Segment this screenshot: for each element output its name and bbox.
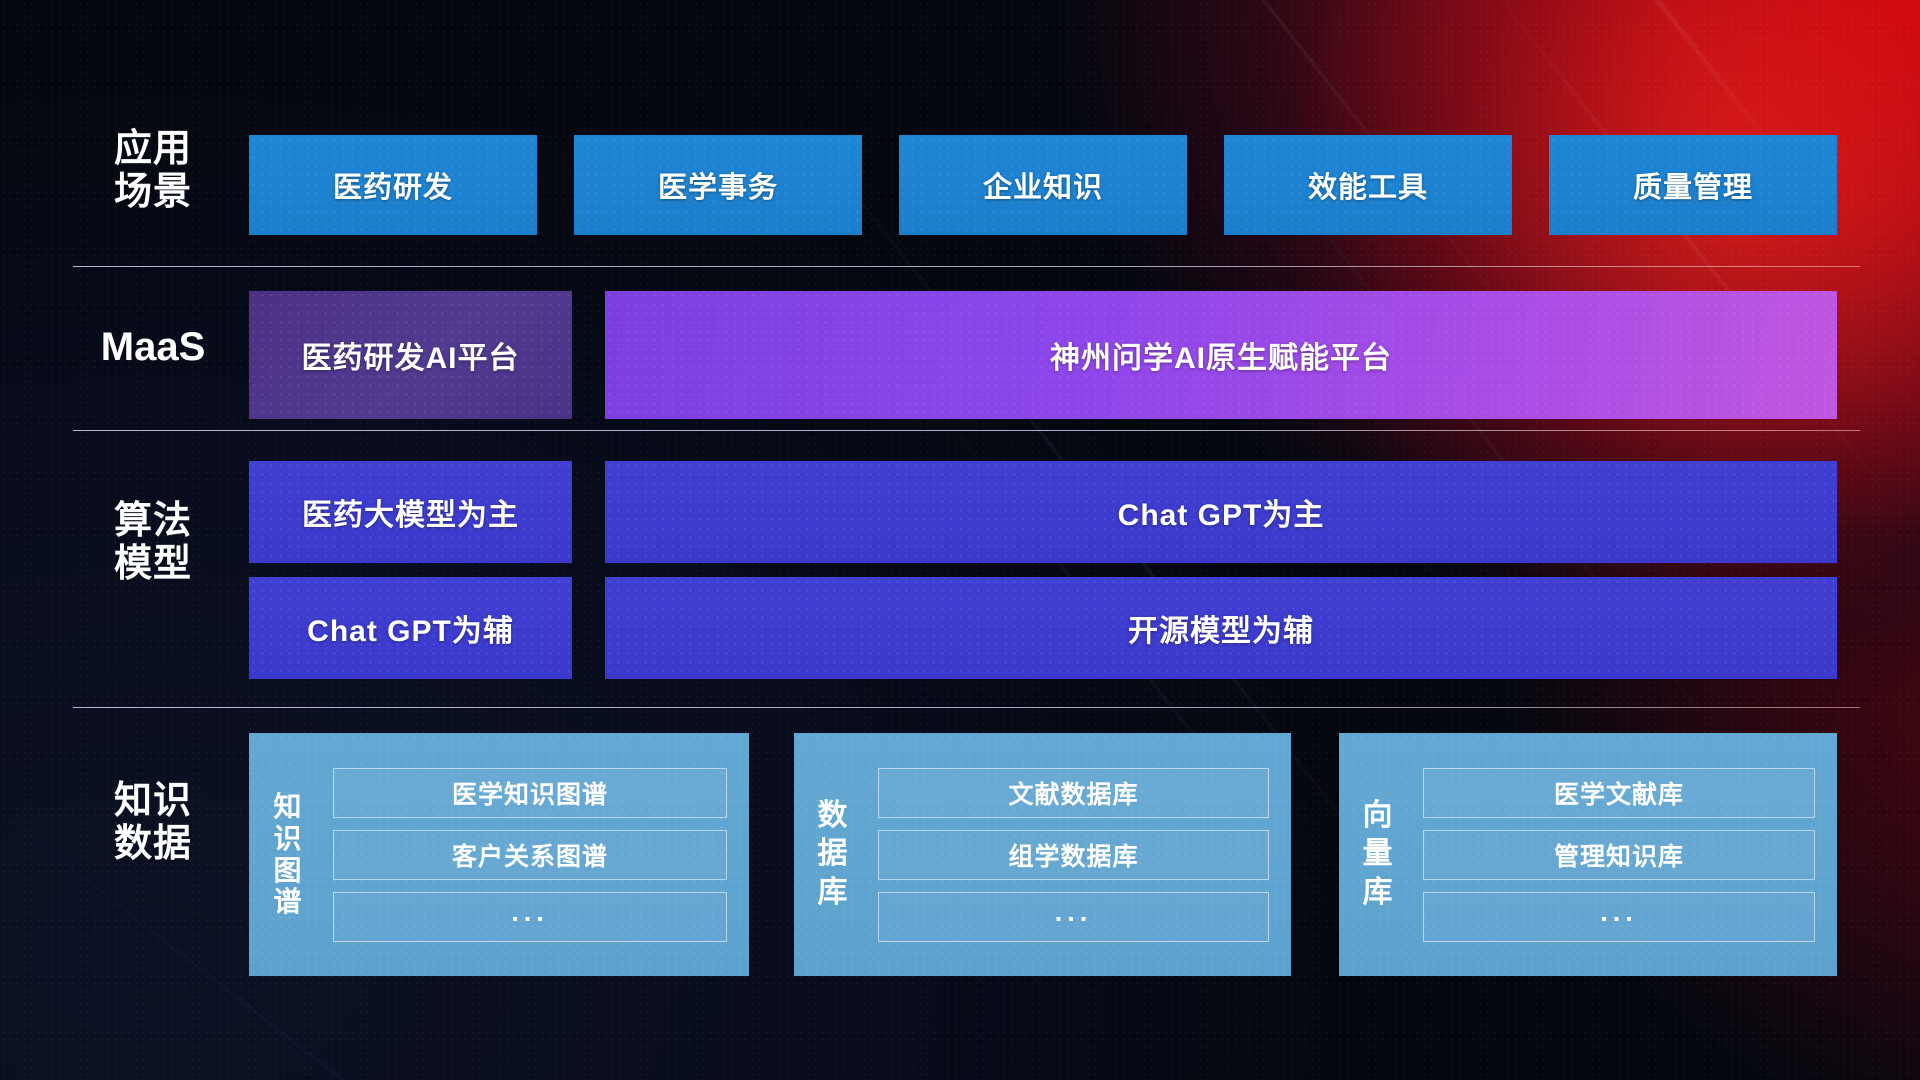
knowledge-item[interactable]: 客户关系图谱	[333, 830, 727, 880]
title-char: 图	[273, 855, 302, 887]
app-box-quality-management[interactable]: 质量管理	[1549, 135, 1837, 235]
title-char: 知	[273, 791, 302, 823]
maas-box-pharma-ai-platform[interactable]: 医药研发AI平台	[249, 291, 572, 419]
algo-box-label: Chat GPT为辅	[307, 606, 514, 650]
row-label-line: MaaS	[73, 325, 233, 370]
row-label-application: 应用 场景	[73, 128, 233, 214]
row-separator	[73, 266, 1860, 267]
row-label-line: 知识	[73, 780, 233, 823]
knowledge-item-list: 医学文献库 管理知识库 ...	[1417, 733, 1837, 976]
title-char: 据	[818, 835, 849, 873]
row-label-line: 算法	[73, 500, 233, 543]
knowledge-item[interactable]: 文献数据库	[878, 768, 1269, 818]
title-char: 识	[273, 823, 302, 855]
knowledge-item[interactable]: 管理知识库	[1423, 830, 1815, 880]
algo-box-label: 开源模型为辅	[1128, 606, 1314, 650]
knowledge-item[interactable]: 医学知识图谱	[333, 768, 727, 818]
app-box-efficiency-tools[interactable]: 效能工具	[1224, 135, 1512, 235]
knowledge-item-more[interactable]: ...	[333, 892, 727, 942]
title-char: 数	[818, 797, 849, 835]
maas-box-shenzhou-wenxue-platform[interactable]: 神州问学AI原生赋能平台	[605, 291, 1837, 419]
row-separator	[73, 707, 1860, 708]
algo-box-open-source-secondary[interactable]: 开源模型为辅	[605, 577, 1837, 679]
knowledge-panel-vector-db[interactable]: 向 量 库 医学文献库 管理知识库 ...	[1339, 733, 1837, 976]
row-label-maas: MaaS	[73, 325, 233, 370]
row-label-line: 应用	[73, 128, 233, 171]
app-box-label: 医药研发	[333, 164, 453, 206]
algo-box-label: Chat GPT为主	[1118, 490, 1325, 534]
knowledge-panel-title: 数 据 库	[794, 733, 872, 976]
knowledge-panel-knowledge-graph[interactable]: 知 识 图 谱 医学知识图谱 客户关系图谱 ...	[249, 733, 749, 976]
knowledge-panel-title: 向 量 库	[1339, 733, 1417, 976]
knowledge-item[interactable]: 医学文献库	[1423, 768, 1815, 818]
knowledge-item-more[interactable]: ...	[878, 892, 1269, 942]
maas-box-label: 神州问学AI原生赋能平台	[1050, 333, 1392, 377]
algo-box-label: 医药大模型为主	[302, 490, 519, 534]
app-box-label: 医学事务	[658, 164, 778, 206]
row-label-algorithm: 算法 模型	[73, 500, 233, 586]
row-label-line: 模型	[73, 543, 233, 586]
row-label-line: 场景	[73, 171, 233, 214]
knowledge-item-list: 医学知识图谱 客户关系图谱 ...	[327, 733, 749, 976]
title-char: 量	[1363, 835, 1394, 873]
title-char: 库	[1363, 874, 1394, 912]
algo-box-pharma-large-model-primary[interactable]: 医药大模型为主	[249, 461, 572, 563]
row-label-line: 数据	[73, 823, 233, 866]
app-box-enterprise-knowledge[interactable]: 企业知识	[899, 135, 1187, 235]
app-box-label: 企业知识	[983, 164, 1103, 206]
app-box-label: 质量管理	[1633, 164, 1753, 206]
knowledge-panel-title: 知 识 图 谱	[249, 733, 327, 976]
maas-box-label: 医药研发AI平台	[302, 333, 520, 377]
title-char: 向	[1363, 797, 1394, 835]
algo-box-chatgpt-secondary[interactable]: Chat GPT为辅	[249, 577, 572, 679]
row-separator	[73, 430, 1860, 431]
knowledge-panel-database[interactable]: 数 据 库 文献数据库 组学数据库 ...	[794, 733, 1291, 976]
algo-box-chatgpt-primary[interactable]: Chat GPT为主	[605, 461, 1837, 563]
row-label-knowledge: 知识 数据	[73, 780, 233, 866]
title-char: 库	[818, 874, 849, 912]
knowledge-item-list: 文献数据库 组学数据库 ...	[872, 733, 1291, 976]
architecture-diagram: 应用 场景 医药研发 医学事务 企业知识 效能工具 质量管理 MaaS 医药研发…	[0, 0, 1920, 1080]
title-char: 谱	[273, 886, 302, 918]
knowledge-item-more[interactable]: ...	[1423, 892, 1815, 942]
knowledge-item[interactable]: 组学数据库	[878, 830, 1269, 880]
app-box-label: 效能工具	[1308, 164, 1428, 206]
app-box-medicine-rd[interactable]: 医药研发	[249, 135, 537, 235]
app-box-medical-affairs[interactable]: 医学事务	[574, 135, 862, 235]
